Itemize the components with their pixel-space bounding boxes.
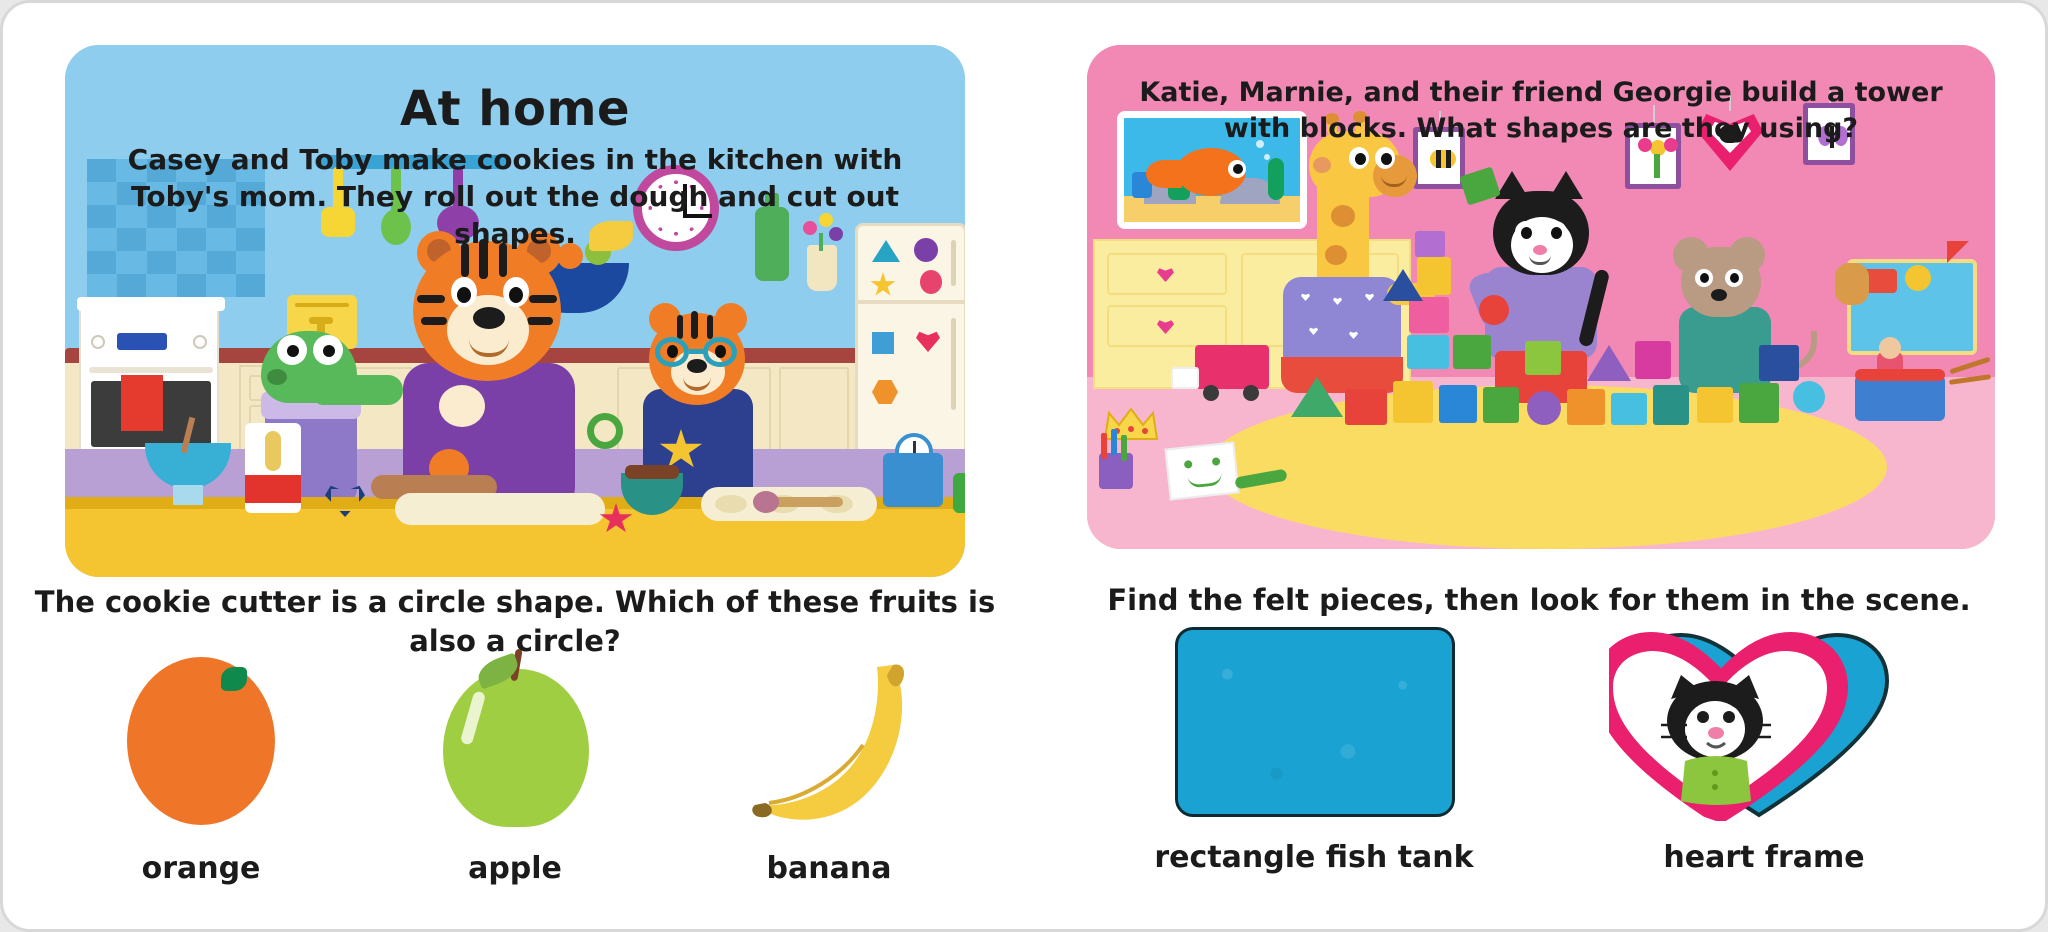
block-cyan-2: [1611, 393, 1647, 425]
kitchen-scale: [883, 453, 943, 507]
answer-orange[interactable]: orange: [81, 639, 321, 886]
playroom-scene-panel: Katie, Marnie, and their friend Georgie …: [1087, 45, 1995, 549]
pennant-flag-icon: [1947, 241, 1969, 263]
banana-shape: [743, 657, 919, 829]
answer-label-banana: banana: [709, 851, 949, 886]
page-right: Katie, Marnie, and their friend Georgie …: [1027, 3, 2048, 932]
block-pink: [1409, 297, 1449, 333]
block-triangle-navy: [1383, 269, 1423, 301]
answer-heart-frame[interactable]: heart frame: [1599, 623, 1929, 875]
green-ring-icon: [587, 413, 623, 449]
block-triangle-green: [1291, 377, 1343, 417]
orange-fruit-icon: [81, 639, 321, 839]
stove-display: [117, 333, 167, 350]
answer-banana[interactable]: banana: [709, 639, 949, 886]
answer-rectangle-fish-tank[interactable]: rectangle fish tank: [1149, 623, 1479, 875]
felt-answer-row: rectangle fish tank: [1027, 623, 2048, 875]
block-triangle-purple: [1587, 345, 1631, 381]
block-circle-purple: [1527, 391, 1561, 425]
block-yellow-3: [1697, 387, 1733, 423]
caption-right: Find the felt pieces, then look for them…: [1027, 581, 2048, 620]
teddy-bear-icon: [1835, 263, 1869, 305]
block-circle-cyan: [1793, 381, 1825, 413]
mouse-head: [1681, 247, 1761, 317]
block-blue: [1439, 385, 1477, 423]
answer-label-heart-frame: heart frame: [1599, 840, 1929, 875]
crocodile-snout: [315, 375, 403, 405]
toy-wagon: [1195, 345, 1269, 389]
block-lime: [1525, 341, 1561, 375]
cabinet-door-4: [779, 367, 849, 455]
wooden-spoon-icon: [773, 497, 843, 507]
felt-rectangle-icon: [1149, 623, 1479, 828]
magnet-star-icon: [870, 272, 896, 298]
block-navy: [1759, 345, 1799, 381]
book-spread: At home Casey and Toby make cookies in t…: [0, 0, 2048, 932]
oven-towel: [121, 375, 163, 431]
block-teal: [1653, 385, 1689, 425]
toy-drum: [1855, 375, 1945, 421]
magnet-heart-icon: [916, 330, 940, 352]
page-left: At home Casey and Toby make cookies in t…: [3, 3, 1027, 932]
fruit-answer-row: orange apple: [3, 639, 1027, 886]
block-green-2: [1483, 387, 1519, 423]
block-yellow-2: [1393, 381, 1433, 423]
drawing-paper: [1164, 441, 1239, 500]
felt-heart-icon: [1599, 623, 1929, 828]
block-orange: [1567, 389, 1605, 425]
block-magenta: [1635, 341, 1671, 379]
answer-label-orange: orange: [81, 851, 321, 886]
block-purple: [1415, 231, 1445, 257]
block-circle-red: [1479, 295, 1509, 325]
mouse-body: [1679, 307, 1771, 393]
scene-intro-right: Katie, Marnie, and their friend Georgie …: [1127, 75, 1955, 147]
banana-fruit-icon: [709, 639, 949, 839]
block-red: [1345, 389, 1387, 425]
magnet-square-icon: [872, 332, 894, 354]
felt-heart-shape: [1609, 625, 1909, 821]
answer-label-rectangle-fish-tank: rectangle fish tank: [1149, 840, 1479, 875]
magnet-crescent-icon: [920, 270, 942, 294]
answer-apple[interactable]: apple: [395, 639, 635, 886]
apple-fruit-icon: [395, 639, 635, 839]
block-cyan: [1407, 335, 1449, 369]
scene-intro-left: Casey and Toby make cookies in the kitch…: [105, 141, 925, 253]
green-container: [953, 473, 965, 513]
dough-sheet-1: [395, 493, 605, 525]
stove: [79, 303, 219, 453]
scene-title-left: At home: [65, 81, 965, 137]
flour-bag: [245, 423, 301, 513]
answer-label-apple: apple: [395, 851, 635, 886]
magnet-hexagon-icon: [872, 380, 898, 404]
block-green-1: [1453, 335, 1491, 369]
kitchen-scene-panel: At home Casey and Toby make cookies in t…: [65, 45, 965, 577]
block-green-3: [1739, 383, 1779, 423]
